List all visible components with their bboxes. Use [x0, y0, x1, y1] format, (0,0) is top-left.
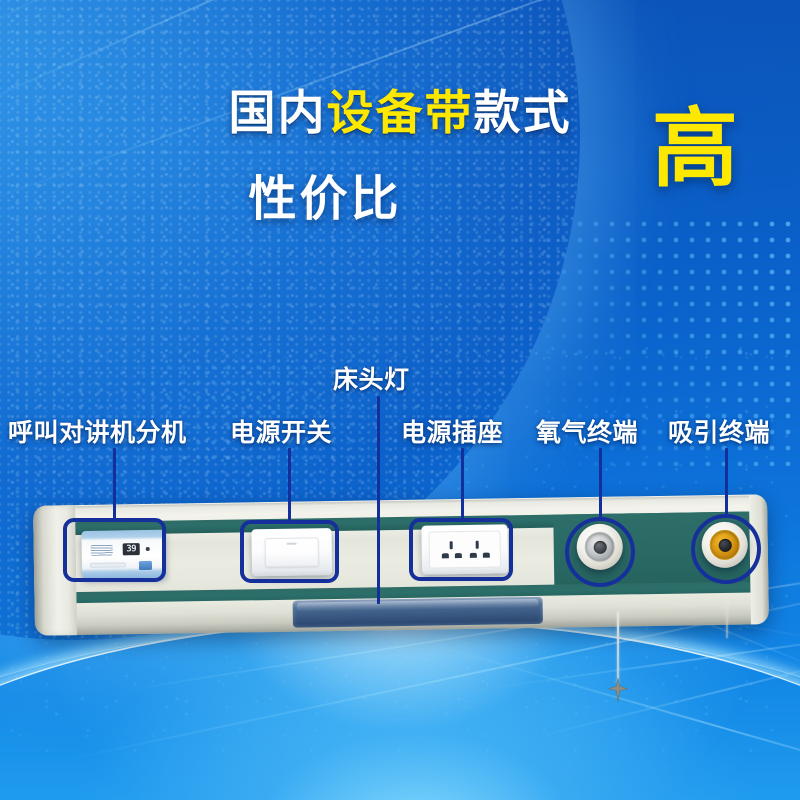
callout-label-oxygen: 氧气终端 [536, 413, 638, 449]
callout-label-suction: 吸引终端 [668, 413, 770, 449]
leader-line-oxygen [599, 448, 602, 520]
leader-line-suction [725, 448, 728, 516]
leader-line-power-switch [288, 448, 291, 522]
callout-label-intercom: 呼叫对讲机分机 [8, 413, 187, 449]
poster-canvas: 国内设备带款式 性价比 高 39 [0, 0, 800, 800]
callout-label-bedside-lamp: 床头灯 [333, 360, 410, 396]
leader-line-intercom [113, 448, 116, 520]
leader-line-power-socket [461, 448, 464, 520]
leader-line-bedside-lamp [377, 396, 380, 604]
callout-label-power-switch: 电源开关 [230, 413, 332, 449]
callout-label-power-socket: 电源插座 [401, 413, 503, 449]
callout-layer: 呼叫对讲机分机 电源开关 床头灯 电源插座 氧气终端 吸引终端 [0, 0, 800, 800]
